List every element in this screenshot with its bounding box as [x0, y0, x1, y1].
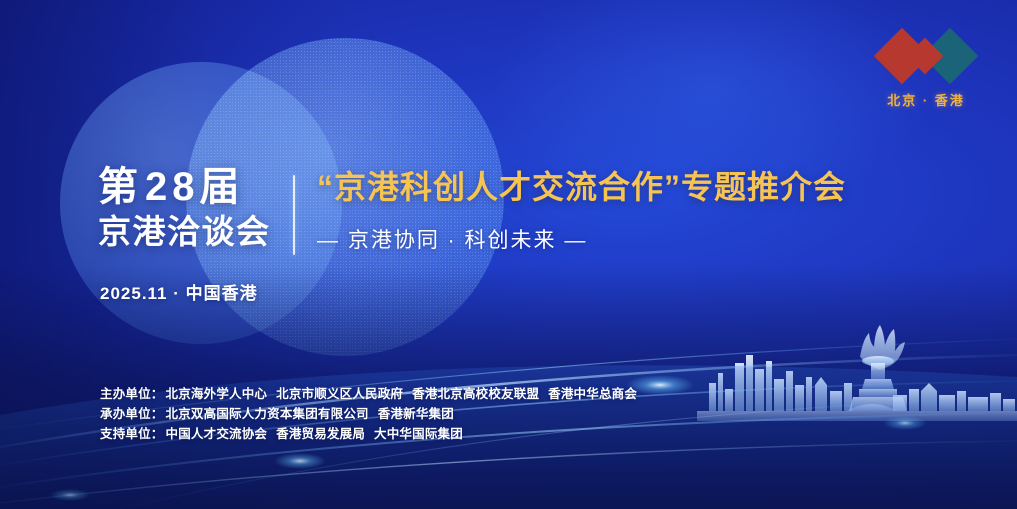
- edition-prefix: 第: [98, 165, 145, 209]
- organizer-list: 主办单位：北京海外学人中心北京市顺义区人民政府香港北京高校校友联盟香港中华总商会…: [100, 384, 646, 444]
- logo-diamond-icon: [871, 26, 981, 88]
- organizer-label: 支持单位：: [100, 427, 164, 441]
- event-banner: 北京 · 香港 第28届 京港洽谈会 “京港科创人才交流合作”专题推介会 — 京…: [0, 0, 1017, 509]
- edition-number: 28: [145, 165, 200, 209]
- logo-text: 北京 · 香港: [871, 90, 981, 109]
- organizer-entities: 北京海外学人中心北京市顺义区人民政府香港北京高校校友联盟香港中华总商会: [166, 387, 647, 401]
- organizer-entity: 北京海外学人中心: [166, 387, 268, 401]
- edition-title-group: 第28届 京港洽谈会: [98, 166, 283, 251]
- organizer-entity: 香港北京高校校友联盟: [412, 387, 539, 401]
- organizer-entity: 北京市顺义区人民政府: [276, 387, 403, 401]
- event-logo: 北京 · 香港: [871, 26, 981, 118]
- organizer-entity: 香港中华总商会: [548, 387, 637, 401]
- organizer-entity: 香港贸易发展局: [276, 427, 365, 441]
- logo-diamonds: [871, 26, 981, 88]
- organizer-entity: 香港新华集团: [378, 407, 454, 421]
- organizer-row: 主办单位：北京海外学人中心北京市顺义区人民政府香港北京高校校友联盟香港中华总商会: [100, 384, 646, 404]
- main-title: “京港科创人才交流合作”专题推介会: [317, 168, 846, 206]
- title-divider: [293, 175, 295, 255]
- edition-suffix: 届: [200, 165, 247, 209]
- organizer-label: 主办单位：: [100, 387, 164, 401]
- sub-title: — 京港协同 · 科创未来 —: [317, 224, 846, 254]
- headline-block: 第28届 京港洽谈会 “京港科创人才交流合作”专题推介会 — 京港协同 · 科创…: [98, 166, 846, 255]
- main-title-group: “京港科创人才交流合作”专题推介会 — 京港协同 · 科创未来 —: [317, 166, 846, 254]
- organizer-row: 承办单位：北京双高国际人力资本集团有限公司香港新华集团: [100, 404, 646, 424]
- organizer-label: 承办单位：: [100, 407, 164, 421]
- organizer-entity: 北京双高国际人力资本集团有限公司: [166, 407, 369, 421]
- organizer-entity: 大中华国际集团: [374, 427, 463, 441]
- organizer-entities: 北京双高国际人力资本集团有限公司香港新华集团: [166, 407, 463, 421]
- organizer-entity: 中国人才交流协会: [166, 427, 268, 441]
- forum-name: 京港洽谈会: [98, 214, 283, 250]
- organizer-entities: 中国人才交流协会香港贸易发展局大中华国际集团: [166, 427, 472, 441]
- edition-line: 第28届: [98, 166, 283, 208]
- date-location: 2025.11 · 中国香港: [100, 279, 258, 304]
- organizer-row: 支持单位：中国人才交流协会香港贸易发展局大中华国际集团: [100, 424, 646, 444]
